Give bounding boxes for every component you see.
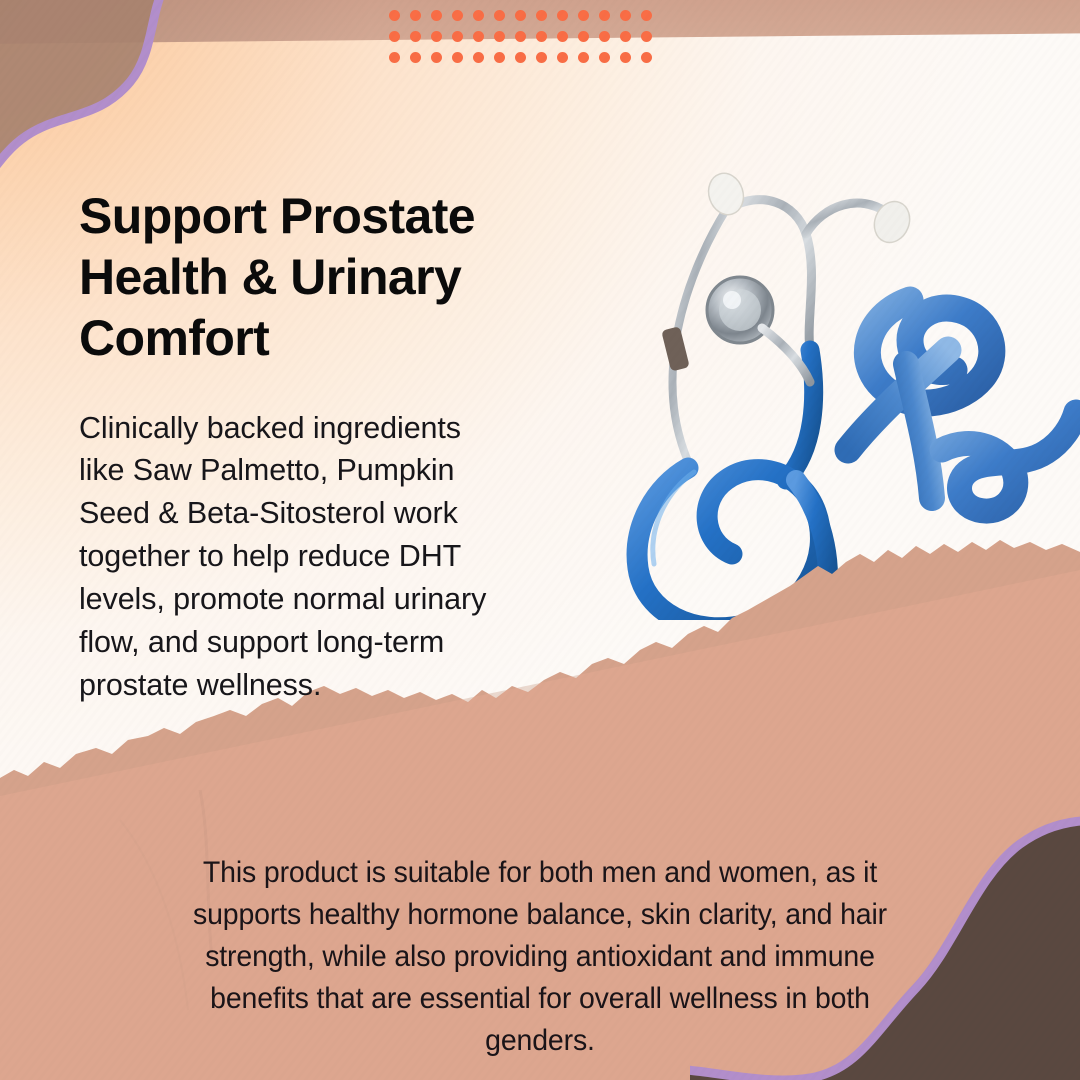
dot bbox=[578, 31, 589, 42]
dot bbox=[410, 52, 421, 63]
dot bbox=[410, 10, 421, 21]
dot bbox=[620, 10, 631, 21]
dot bbox=[389, 10, 400, 21]
dot bbox=[599, 10, 610, 21]
dot bbox=[620, 52, 631, 63]
dot bbox=[494, 52, 505, 63]
dot bbox=[515, 10, 526, 21]
tension-spring bbox=[661, 326, 690, 371]
poster-canvas: Support Prostate Health & Urinary Comfor… bbox=[0, 0, 1080, 1080]
dot bbox=[452, 31, 463, 42]
dot bbox=[431, 10, 442, 21]
dot bbox=[620, 31, 631, 42]
dot bbox=[431, 31, 442, 42]
dot bbox=[452, 52, 463, 63]
dot bbox=[536, 10, 547, 21]
dot bbox=[641, 10, 652, 21]
dot bbox=[410, 31, 421, 42]
dot bbox=[578, 52, 589, 63]
dot bbox=[515, 52, 526, 63]
dot bbox=[389, 31, 400, 42]
dot bbox=[473, 10, 484, 21]
dot bbox=[494, 31, 505, 42]
blob-svg bbox=[0, 0, 290, 210]
dot bbox=[515, 31, 526, 42]
dot bbox=[431, 52, 442, 63]
dot bbox=[599, 52, 610, 63]
dot bbox=[557, 52, 568, 63]
dot bbox=[494, 10, 505, 21]
dot-grid-decoration bbox=[389, 10, 662, 73]
page-title: Support Prostate Health & Urinary Comfor… bbox=[79, 186, 599, 369]
dot bbox=[536, 52, 547, 63]
top-left-blob-decoration bbox=[0, 0, 290, 210]
dot bbox=[599, 31, 610, 42]
dot bbox=[641, 52, 652, 63]
dot bbox=[578, 10, 589, 21]
dot bbox=[536, 31, 547, 42]
dot bbox=[473, 52, 484, 63]
dot bbox=[641, 31, 652, 42]
dot bbox=[557, 31, 568, 42]
ribbon-graphic bbox=[848, 300, 1076, 511]
earpiece bbox=[703, 169, 748, 219]
dot bbox=[389, 52, 400, 63]
dot bbox=[452, 10, 463, 21]
lead-paragraph: Clinically backed ingredients like Saw P… bbox=[79, 407, 624, 707]
dot bbox=[557, 10, 568, 21]
dot bbox=[473, 31, 484, 42]
footer-paragraph: This product is suitable for both men an… bbox=[69, 852, 1011, 1063]
